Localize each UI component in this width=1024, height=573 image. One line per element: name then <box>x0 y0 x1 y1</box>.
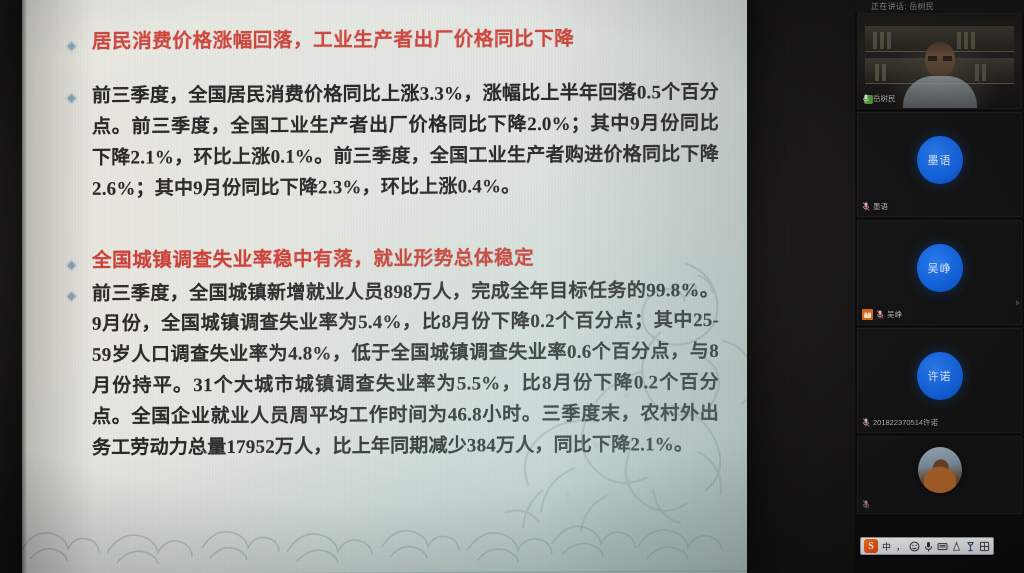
participant-tile[interactable]: 岳树民 <box>857 13 1022 109</box>
diamond-bullet-icon <box>66 291 77 302</box>
diamond-bullet-icon <box>66 93 77 104</box>
slide-heading-2: 全国城镇调查失业率稳中有落，就业形势总体稳定 <box>92 245 719 275</box>
spacer <box>66 201 719 249</box>
projected-slide: 居民消费价格涨幅回落，工业生产者出厂价格同比下降 前三季度，全国居民消费价格同比… <box>22 0 747 573</box>
diamond-bullet-icon <box>66 260 77 271</box>
participant-name: 吴峥 <box>887 309 902 320</box>
glasses-icon <box>928 56 952 61</box>
slide-paragraph-1: 前三季度，全国居民消费价格同比上涨3.3%，涨幅比上半年回落0.5个百分点。前三… <box>92 78 719 205</box>
ime-keyboard-icon[interactable] <box>937 541 948 552</box>
ime-mode-chinese[interactable]: 中 <box>881 539 892 553</box>
ime-menu-icon[interactable] <box>979 541 990 552</box>
screen-photo: 居民消费价格涨幅回落，工业生产者出厂价格同比下降 前三季度，全国居民消费价格同比… <box>0 0 1024 573</box>
active-speaker-label: 正在讲话: 岳树民 <box>855 0 1024 13</box>
slide-heading-1: 居民消费价格涨幅回落，工业生产者出厂价格同比下降 <box>92 26 719 56</box>
slide-left-edge-shadow <box>22 0 27 573</box>
slide-content: 居民消费价格涨幅回落，工业生产者出厂价格同比下降 前三季度，全国居民消费价格同比… <box>22 0 747 573</box>
host-badge-icon <box>862 309 873 320</box>
microphone-icon <box>862 94 870 103</box>
video-participant-sidebar: 正在讲话: 岳树民 <box>855 0 1024 573</box>
participant-name-badge: 墨语 <box>862 201 888 212</box>
microphone-muted-icon <box>862 500 870 509</box>
slide-heading-2-row: 全国城镇调查失业率稳中有落，就业形势总体稳定 <box>66 245 719 275</box>
participant-name: 墨语 <box>873 201 888 212</box>
microphone-muted-icon <box>862 202 870 211</box>
ime-emoji-icon[interactable] <box>909 541 920 552</box>
slide-paragraph-2-row: 前三季度，全国城镇新增就业人员898万人，完成全年目标任务的99.8%。9月份，… <box>66 276 719 465</box>
slide-paragraph-2: 前三季度，全国城镇新增就业人员898万人，完成全年目标任务的99.8%。9月份，… <box>92 276 719 464</box>
participant-name-badge: 吴峥 <box>862 309 902 320</box>
participant-name-badge <box>862 500 873 509</box>
avatar-photo <box>918 447 962 493</box>
microphone-muted-icon <box>862 418 870 427</box>
avatar: 吴峥 <box>917 244 963 292</box>
ime-voice-input-icon[interactable] <box>923 541 934 552</box>
slide-paragraph-1-row: 前三季度，全国居民消费价格同比上涨3.3%，涨幅比上半年回落0.5个百分点。前三… <box>66 78 719 205</box>
participant-tile[interactable]: 墨语 墨语 <box>857 112 1022 217</box>
participant-name-badge: 岳树民 <box>862 93 896 104</box>
ime-toolbox-icon[interactable] <box>965 541 976 552</box>
participant-tile[interactable] <box>857 436 1022 514</box>
participant-tile[interactable]: 吴峥 吴峥 <box>857 220 1022 325</box>
avatar: 墨语 <box>917 136 963 184</box>
sogou-logo-icon[interactable]: S <box>864 539 878 553</box>
participant-name: 201822370514许诺 <box>873 417 938 428</box>
sidebar-scroll-indicator[interactable] <box>1016 300 1020 306</box>
sogou-ime-toolbar[interactable]: S 中 ， <box>860 537 994 555</box>
diamond-bullet-icon <box>66 41 77 52</box>
slide-heading-1-row: 居民消费价格涨幅回落，工业生产者出厂价格同比下降 <box>66 26 719 56</box>
spacer <box>66 52 719 82</box>
participant-tile[interactable]: 许诺 201822370514许诺 <box>857 328 1022 433</box>
participant-name: 岳树民 <box>873 93 896 104</box>
microphone-muted-icon <box>876 310 884 319</box>
avatar: 许诺 <box>917 352 963 400</box>
participant-name-badge: 201822370514许诺 <box>862 417 938 428</box>
ime-skin-icon[interactable] <box>951 541 962 552</box>
ime-punctuation-toggle[interactable]: ， <box>895 539 906 553</box>
